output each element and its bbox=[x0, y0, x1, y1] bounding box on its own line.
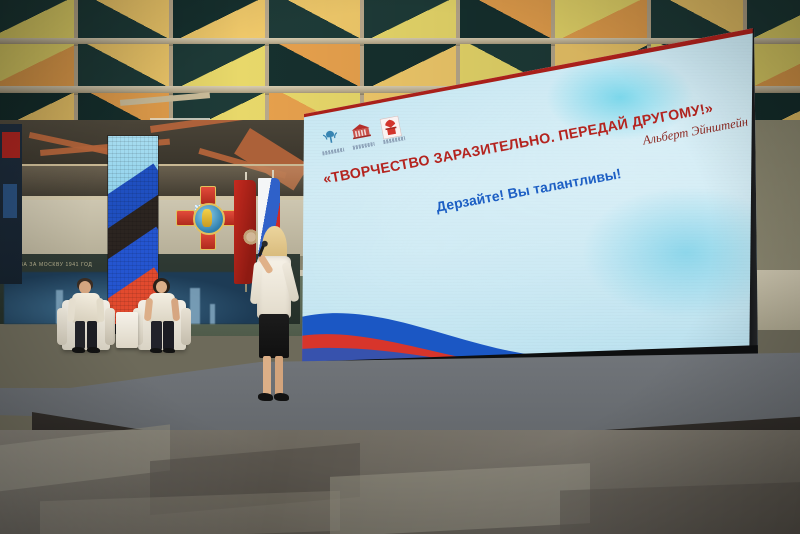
seated-guest-right bbox=[142, 278, 186, 352]
ceiling-panel bbox=[78, 0, 170, 40]
museum-building-icon bbox=[348, 120, 373, 144]
leg bbox=[87, 321, 97, 349]
ceiling-panel bbox=[173, 44, 265, 88]
museum-building-logo bbox=[348, 120, 374, 150]
ceiling-panel bbox=[78, 44, 170, 88]
arm bbox=[171, 298, 180, 322]
head bbox=[156, 281, 167, 293]
side-table[interactable] bbox=[116, 312, 138, 348]
shoe bbox=[258, 393, 273, 401]
ministry-emblem-icon bbox=[318, 126, 343, 150]
leg bbox=[151, 321, 162, 350]
skirt bbox=[259, 314, 289, 358]
led-screen-surface: ДЕНЬ ТУЛЬСКОЙ ОБЛАСТИ И ГОРОДА-ГЕРОЯ ТУЛ… bbox=[296, 22, 766, 382]
hanging-banner bbox=[0, 124, 22, 284]
shoe bbox=[87, 347, 100, 353]
upper-balcony bbox=[0, 120, 330, 200]
shoe bbox=[72, 347, 85, 353]
shoe bbox=[163, 348, 175, 353]
main-led-screen[interactable]: ДЕНЬ ТУЛЬСКОЙ ОБЛАСТИ И ГОРОДА-ГЕРОЯ ТУЛ… bbox=[296, 22, 766, 382]
leg bbox=[275, 356, 283, 396]
ministry-emblem-logo bbox=[318, 126, 344, 156]
ceiling-panel bbox=[0, 44, 74, 88]
presenter-with-microphone bbox=[250, 226, 302, 416]
leg bbox=[75, 321, 85, 349]
shoe bbox=[274, 393, 289, 401]
seated-guest-left bbox=[66, 278, 110, 352]
order-medal-emblem bbox=[176, 186, 238, 248]
ceiling-panel bbox=[173, 0, 265, 40]
ceiling-panel bbox=[0, 0, 74, 40]
arm bbox=[96, 298, 105, 322]
leg bbox=[263, 356, 271, 396]
torso bbox=[72, 293, 100, 323]
balcony-glass-railing bbox=[0, 164, 330, 200]
scene-root: БИТВА ЗА МОСКВУ 1941 ГОД bbox=[0, 0, 800, 534]
tula-kremlin-logo bbox=[379, 115, 405, 145]
hall-floor bbox=[0, 430, 800, 534]
leg bbox=[163, 321, 174, 350]
shoe bbox=[150, 348, 162, 353]
